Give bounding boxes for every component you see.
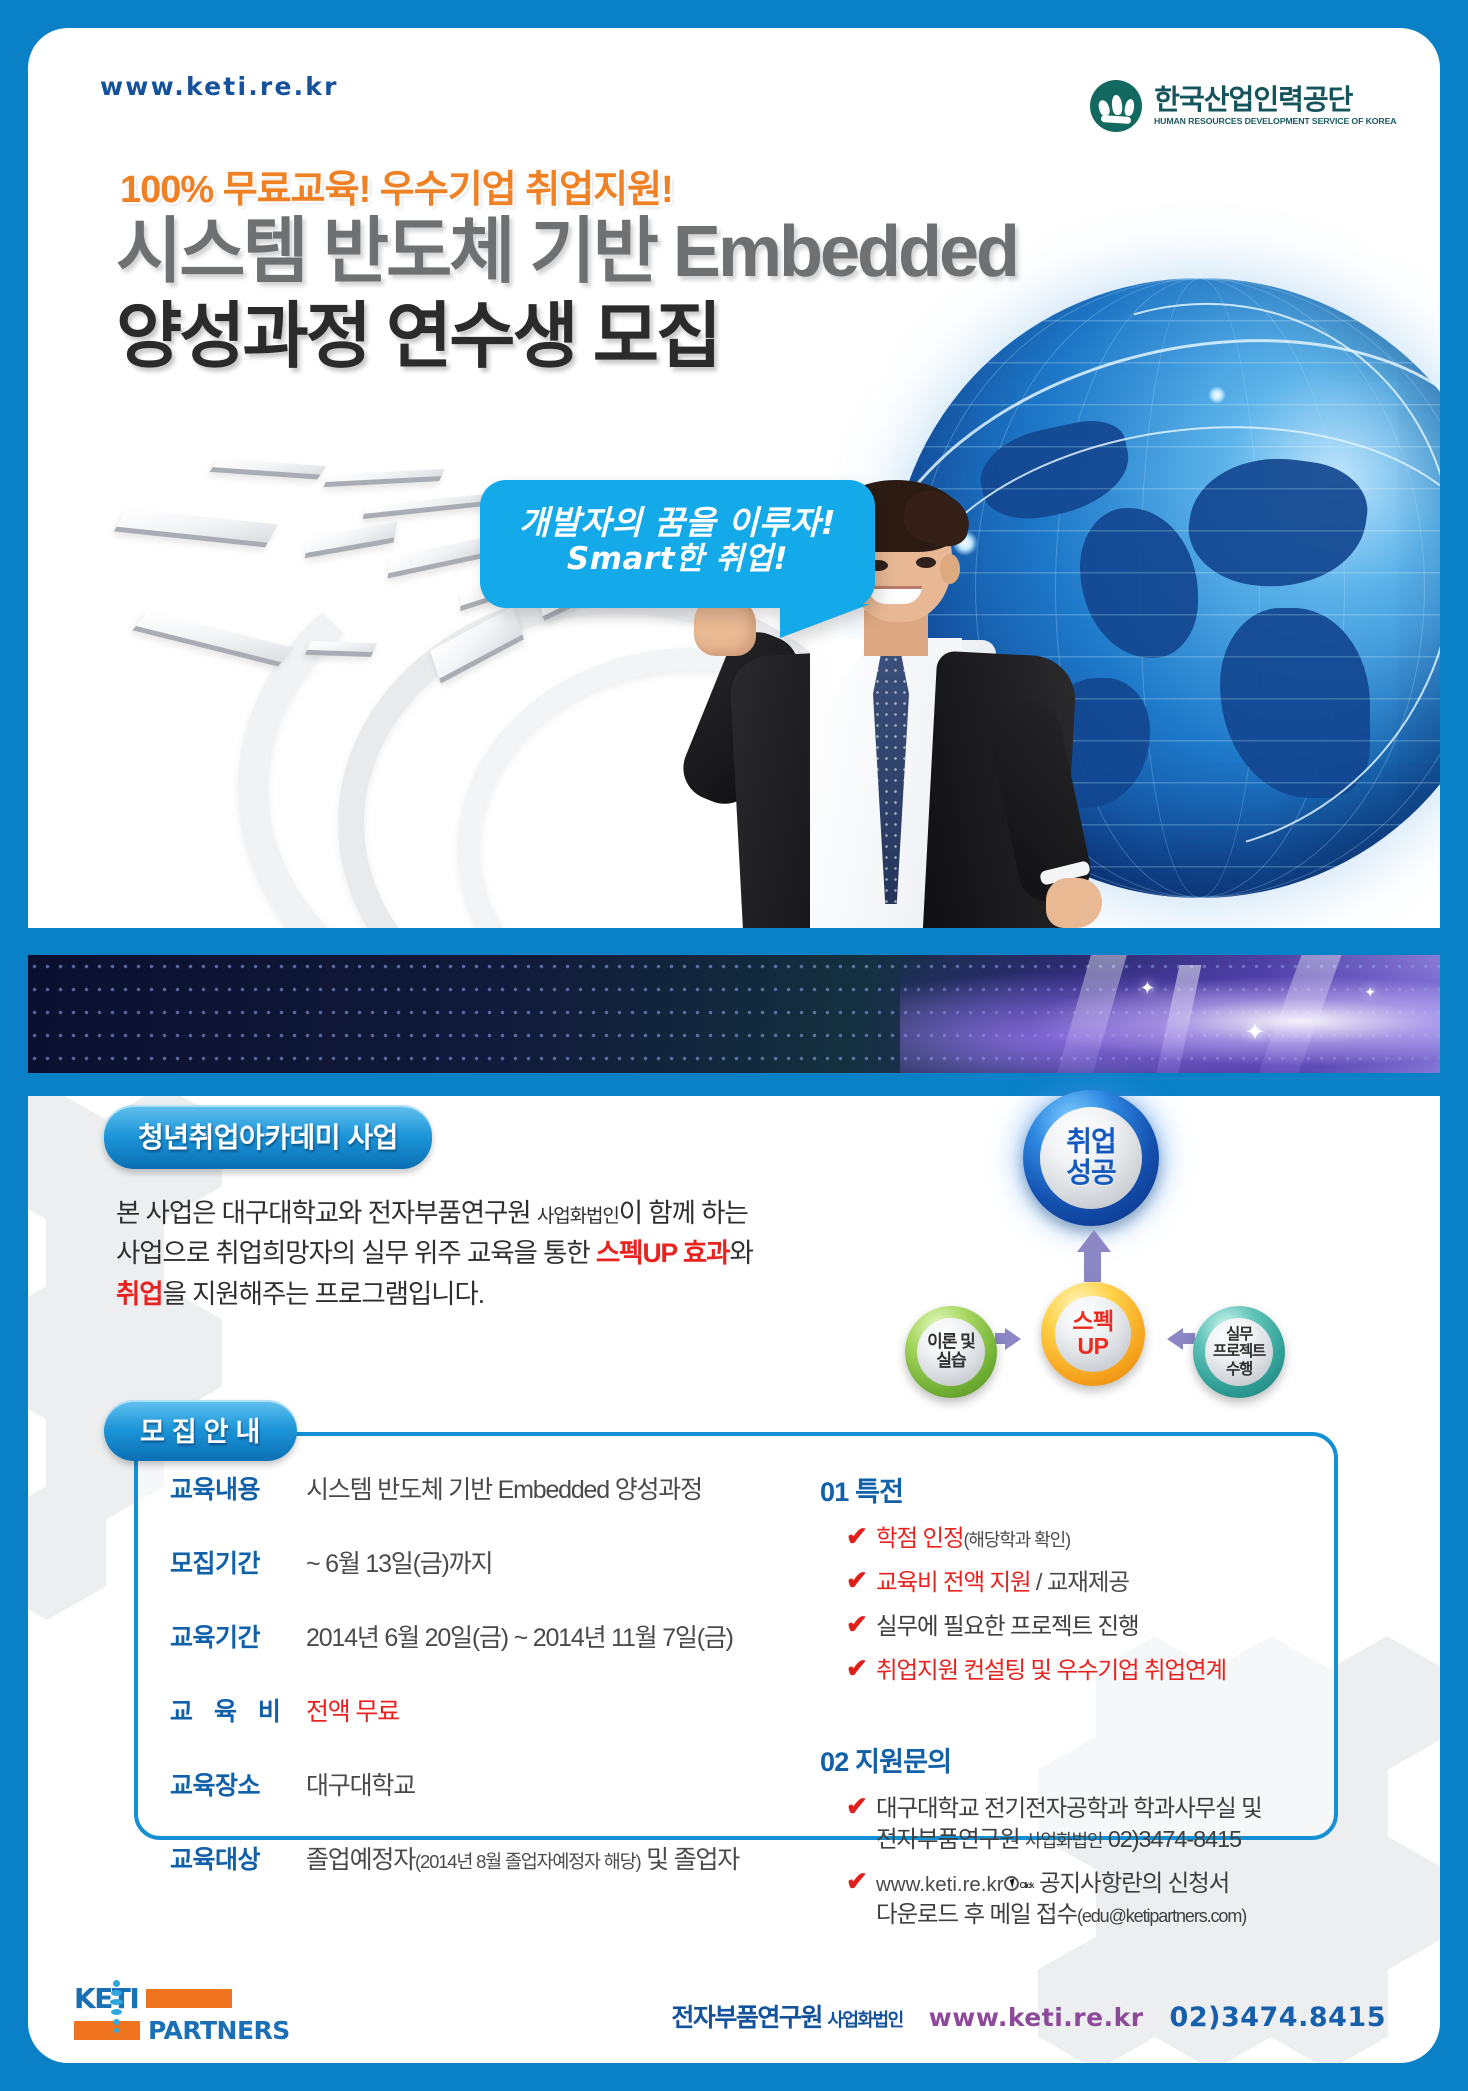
intro-body-text: 본 사업은 대구대학교와 전자부품연구원 사업화법인이 함께 하는 사업으로 취… [116,1193,753,1314]
table-row: 교육장소 대구대학교 [170,1766,810,1802]
node-right-line3: 수행 [1226,1361,1252,1378]
row-key: 교육대상 [170,1840,306,1876]
program-intro-section: 청년취업아카데미 사업 본 사업은 대구대학교와 전자부품연구원 사업화법인이 … [104,1105,753,1314]
ear [940,554,960,584]
continent-shape [1182,446,1373,599]
diagram-node-job-success: 취업 성공 [1023,1090,1159,1226]
logo-keti-text: KETI [74,1982,138,2015]
logo-partners-text: PARTNERS [148,2016,290,2045]
footer-url[interactable]: www.keti.re.kr [929,2003,1144,2032]
check-icon: ✔ [846,1868,876,1930]
diagram-node-spec-up: 스펙 UP [1041,1282,1145,1386]
speech-bubble-tail [780,604,870,638]
row-key: 교육기간 [170,1618,306,1654]
magnifier-click-icon: Click [1004,1876,1034,1893]
card-pill-wrap: 모집안내 [104,1400,297,1461]
poster-root: 개발자의 꿈을 이루자! Smart한 취업! [0,0,1468,2091]
arrow-up-icon [1077,1230,1111,1252]
check-icon: ✔ [846,1611,876,1642]
node-right-line2: 프로젝트 [1213,1343,1265,1360]
list-item: ✔ 학점 인정(해당학과 확인) [820,1523,1304,1554]
node-left-line1: 이론 및 [927,1332,975,1351]
check-icon: ✔ [846,1523,876,1554]
node-mid-line2: UP [1078,1333,1109,1359]
intro-text-2-red: 스펙UP 효과 [596,1238,730,1268]
intro-text-3-red: 취업 [116,1279,163,1309]
section-heading-contact: 02 지원문의 [820,1740,1304,1779]
hrd-logo-english: HUMAN RESOURCES DEVELOPMENT SERVICE OF K… [1154,117,1396,126]
node-right-line1: 실무 [1226,1326,1252,1343]
row-key: 모집기간 [170,1544,306,1580]
row-key: 교육내용 [170,1470,306,1506]
intro-text-2: 사업으로 취업희망자의 실무 위주 교육을 통한 [116,1238,596,1268]
node-left-line2: 실습 [936,1351,965,1370]
node-mid-line1: 스펙 [1072,1308,1113,1334]
benefits-and-contact: 01 특전 ✔ 학점 인정(해당학과 확인) ✔ 교육비 전액 지원 / 교재제… [810,1470,1304,1836]
intro-text-2b: 와 [729,1238,752,1268]
hrd-emblem-icon [1090,80,1142,132]
kicker-text: 100% 무료교육! 우수기업 취업지원! [120,158,673,213]
list-item: ✔ 취업지원 컨설팅 및 우수기업 취업연계 [820,1655,1304,1686]
logo-bar-orange [74,2021,140,2040]
check-icon: ✔ [846,1567,876,1598]
card-pill-label: 모집안내 [104,1400,297,1461]
recruitment-detail-list: 교육내용 시스템 반도체 기반 Embedded 양성과정 모집기간 ~ 6월 … [170,1470,810,1836]
row-value: ~ 6월 13일(금)까지 [306,1544,492,1580]
footer-tel[interactable]: 02)3474.8415 [1170,2002,1386,2033]
bubble-line-2: Smart한 취업! [480,542,875,578]
plate [132,611,293,666]
keti-site-link[interactable]: www.keti.re.kr [876,1873,1004,1896]
intro-text-1b: 이 함께 하는 [619,1198,748,1228]
section-heading-benefits: 01 특전 [820,1470,1304,1509]
list-item: ✔ 실무에 필요한 프로젝트 진행 [820,1611,1304,1642]
table-row: 교 육 비 전액 무료 [170,1692,810,1728]
table-row: 교육대상 졸업예정자(2014년 8월 졸업자예정자 해당) 및 졸업자 [170,1840,810,1876]
globe-meridian [1140,278,1260,898]
plate [210,459,327,480]
table-row: 교육기간 2014년 6월 20일(금) ~ 2014년 11월 7일(금) [170,1618,810,1654]
intro-text-1: 본 사업은 대구대학교와 전자부품연구원 [116,1198,537,1228]
keti-partners-logo: KETI PARTNERS [74,1978,274,2044]
plate [323,469,444,487]
globe-gleam [1208,386,1226,404]
row-value: 대구대학교 [306,1766,415,1802]
hrd-logo-korean: 한국산업인력공단 [1154,86,1392,114]
right-hand [1046,878,1102,928]
site-url-top[interactable]: www.keti.re.kr [100,72,339,101]
recruitment-info-card: 교육내용 시스템 반도체 기반 Embedded 양성과정 모집기간 ~ 6월 … [134,1432,1338,1840]
page-title: 시스템 반도체 기반 Embedded 양성과정 연수생 모집 [116,210,1017,380]
spec-up-diagram: 취업 성공 스펙 UP 이론 및 실습 [905,1090,1305,1420]
table-row: 모집기간 ~ 6월 13일(금)까지 [170,1544,810,1580]
list-item-text: 취업지원 컨설팅 및 우수기업 취업연계 [876,1655,1226,1686]
plate [114,509,278,548]
plate [305,522,397,559]
email-address[interactable]: (edu@ketipartners.com) [1077,1906,1246,1926]
plate [305,641,377,657]
hero-panel: 개발자의 꿈을 이루자! Smart한 취업! [28,28,1440,928]
logo-dots-icon [110,1978,123,2040]
check-icon: ✔ [846,1655,876,1686]
sparkle-icon: ✦ [1140,979,1155,997]
diagram-node-field-project: 실무 프로젝트 수행 [1193,1306,1285,1398]
footer-contact: 전자부품연구원 사업화법인 www.keti.re.kr 02)3474.841… [671,1998,1386,2034]
list-item-text: www.keti.re.krClick 공지사항란의 신청서 다운로드 후 메일… [876,1868,1246,1930]
continent-shape [1220,608,1370,798]
list-item: ✔ 대구대학교 전기전자공학과 학과사무실 및 전자부품연구원 사업화법인 02… [820,1793,1304,1855]
bubble-line-1: 개발자의 꿈을 이루자! [480,504,875,542]
headline-line-2: 양성과정 연수생 모집 [116,295,1017,380]
intro-text-3: 을 지원해주는 프로그램입니다. [163,1279,484,1309]
arrow-right-icon [1005,1328,1021,1350]
row-key: 교 육 비 [170,1692,306,1728]
arrow-left-icon [1167,1328,1183,1350]
arrow-up-stem [1084,1250,1101,1282]
row-key: 교육장소 [170,1766,306,1802]
sparkle-icon: ✦ [1245,1021,1265,1045]
footer-org: 전자부품연구원 사업화법인 [671,1998,902,2034]
logo-bar-orange [146,1989,232,2008]
speech-bubble-text: 개발자의 꿈을 이루자! Smart한 취업! [480,480,875,608]
list-item: ✔ 교육비 전액 지원 / 교재제공 [820,1567,1304,1598]
hrd-korea-logo: 한국산업인력공단 HUMAN RESOURCES DEVELOPMENT SER… [1090,80,1392,132]
tech-divider-band: ✦ ✦ ✦ [28,955,1440,1073]
table-row: 교육내용 시스템 반도체 기반 Embedded 양성과정 [170,1470,810,1506]
list-item-text: 교육비 전액 지원 / 교재제공 [876,1567,1129,1598]
headline-line-1: 시스템 반도체 기반 Embedded [116,210,1017,295]
row-value: 2014년 6월 20일(금) ~ 2014년 11월 7일(금) [306,1618,733,1654]
row-value: 전액 무료 [306,1692,399,1728]
list-item: ✔ www.keti.re.krClick 공지사항란의 신청서 다운로드 후 … [820,1868,1304,1930]
arrow-right-stem [995,1333,1007,1344]
row-value: 졸업예정자(2014년 8월 졸업자예정자 해당) 및 졸업자 [306,1840,739,1876]
list-item-text: 실무에 필요한 프로젝트 진행 [876,1611,1139,1642]
intro-pill-label: 청년취업아카데미 사업 [104,1105,432,1169]
footer: KETI PARTNERS 전자부품연구원 사업화법인 www.keti.re.… [28,1960,1440,2063]
speech-bubble: 개발자의 꿈을 이루자! Smart한 취업! [480,480,875,608]
sparkle-icon: ✦ [1364,985,1376,999]
node-top-line1: 취업 [1066,1126,1116,1157]
plate [363,493,496,519]
list-item-text: 대구대학교 전기전자공학과 학과사무실 및 전자부품연구원 사업화법인 02)3… [876,1793,1262,1855]
hrd-logo-text: 한국산업인력공단 HUMAN RESOURCES DEVELOPMENT SER… [1154,86,1392,126]
row-value: 시스템 반도체 기반 Embedded 양성과정 [306,1470,702,1506]
diagram-node-theory-practice: 이론 및 실습 [905,1306,997,1398]
list-item-text: 학점 인정(해당학과 확인) [876,1523,1070,1554]
check-icon: ✔ [846,1793,876,1855]
eye [916,557,936,568]
intro-text-1-small: 사업화법인 [537,1206,619,1227]
node-top-line2: 성공 [1066,1157,1116,1188]
